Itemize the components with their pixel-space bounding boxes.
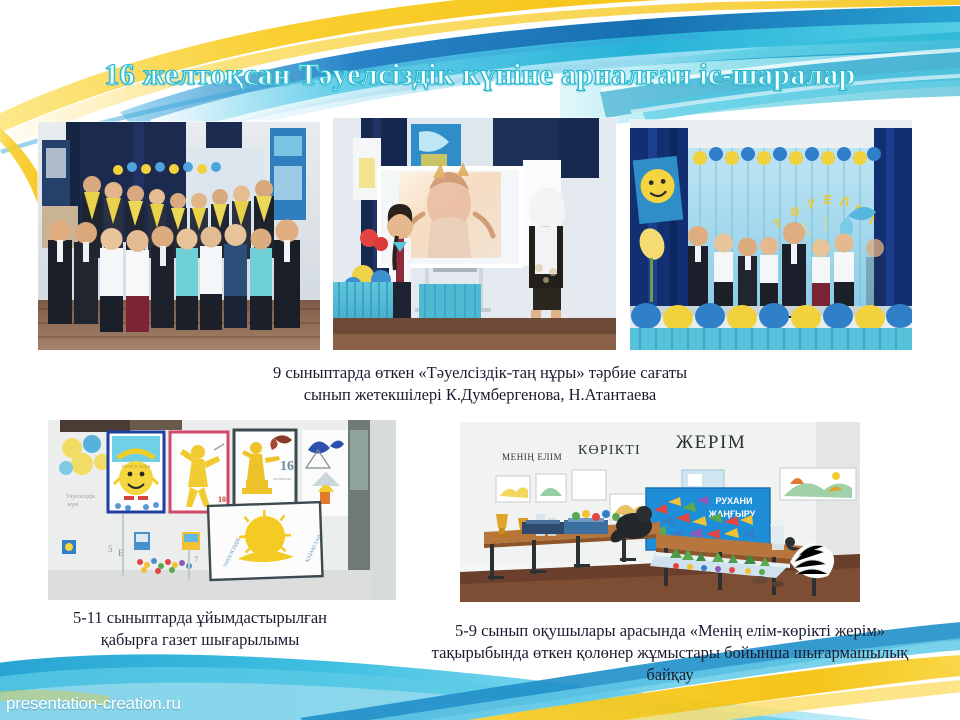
photo-stage-balloons-image: Т Ә У Е Л С І xyxy=(630,120,912,350)
caption-top-line-1: 9 сыныптарда өткен «Тәуелсіздік-таң нұры… xyxy=(150,362,810,384)
caption-top: 9 сыныптарда өткен «Тәуелсіздік-таң нұры… xyxy=(150,362,810,406)
caption-top-line-2: сынып жетекшілері К.Думбергенова, Н.Атан… xyxy=(150,384,810,406)
caption-bottom-right-line-3: байқау xyxy=(360,664,960,686)
watermark-label: presentation-creation.ru xyxy=(6,694,181,714)
caption-bottom-right: 5-9 сынып оқушылары арасында «Менің елім… xyxy=(360,620,960,685)
caption-bottom-right-line-1: 5-9 сынып оқушылары арасында «Менің елім… xyxy=(360,620,960,642)
caption-bottom-left: 5-11 сыныптарда ұйымдастырылған қабырға … xyxy=(20,607,380,651)
caption-bottom-right-line-2: тақырыбында өткен қолөнер жұмыстары бойы… xyxy=(360,642,960,664)
board-line-1: РУХАНИ xyxy=(716,496,753,506)
svg-text:10: 10 xyxy=(218,495,226,504)
poster-number-label: 16 xyxy=(280,459,294,474)
svg-text:ЖЕРІМ: ЖЕРІМ xyxy=(676,432,746,453)
photo-group-students-image xyxy=(38,122,320,350)
photo-wall-newspapers-image: Тәуелсіздік күні ТӘУЕЛСІЗДІК xyxy=(48,420,396,600)
svg-text:7: 7 xyxy=(194,555,198,564)
photo-group-students xyxy=(38,122,320,350)
svg-text:Е: Е xyxy=(824,192,833,207)
photo-craft-exhibition: МЕНІҢ ЕЛІМ КӨРІКТІ ЖЕРІМ xyxy=(460,422,860,602)
photo-projector-presentation xyxy=(333,118,616,350)
photo-wall-newspapers: Тәуелсіздік күні ТӘУЕЛСІЗДІК xyxy=(48,420,396,600)
slide-title-container: 16 желтоқсан Тәуелсіздік күніне арналған… xyxy=(0,58,960,92)
svg-text:МЕНІҢ ЕЛІМ: МЕНІҢ ЕЛІМ xyxy=(502,452,562,462)
svg-text:желтоқсан: желтоқсан xyxy=(272,476,292,481)
svg-text:күні: күні xyxy=(68,502,79,508)
photo-projector-presentation-image xyxy=(333,118,616,350)
photo-stage-balloons: Т Ә У Е Л С І xyxy=(630,120,912,350)
caption-bottom-left-line-1: 5-11 сыныптарда ұйымдастырылған xyxy=(20,607,380,629)
photo-craft-exhibition-image: МЕНІҢ ЕЛІМ КӨРІКТІ ЖЕРІМ xyxy=(460,422,860,602)
svg-text:КӨРІКТІ: КӨРІКТІ xyxy=(578,443,641,458)
caption-bottom-left-line-2: қабырға газет шығарылымы xyxy=(20,629,380,651)
svg-text:Тәуелсіздік: Тәуелсіздік xyxy=(66,494,95,500)
svg-text:ТӘУЕЛСІЗДІК: ТӘУЕЛСІЗДІК xyxy=(122,464,152,469)
page-title: 16 желтоқсан Тәуелсіздік күніне арналған… xyxy=(104,58,855,92)
svg-text:5: 5 xyxy=(108,544,113,554)
slide-canvas: 16 желтоқсан Тәуелсіздік күніне арналған… xyxy=(0,0,960,720)
